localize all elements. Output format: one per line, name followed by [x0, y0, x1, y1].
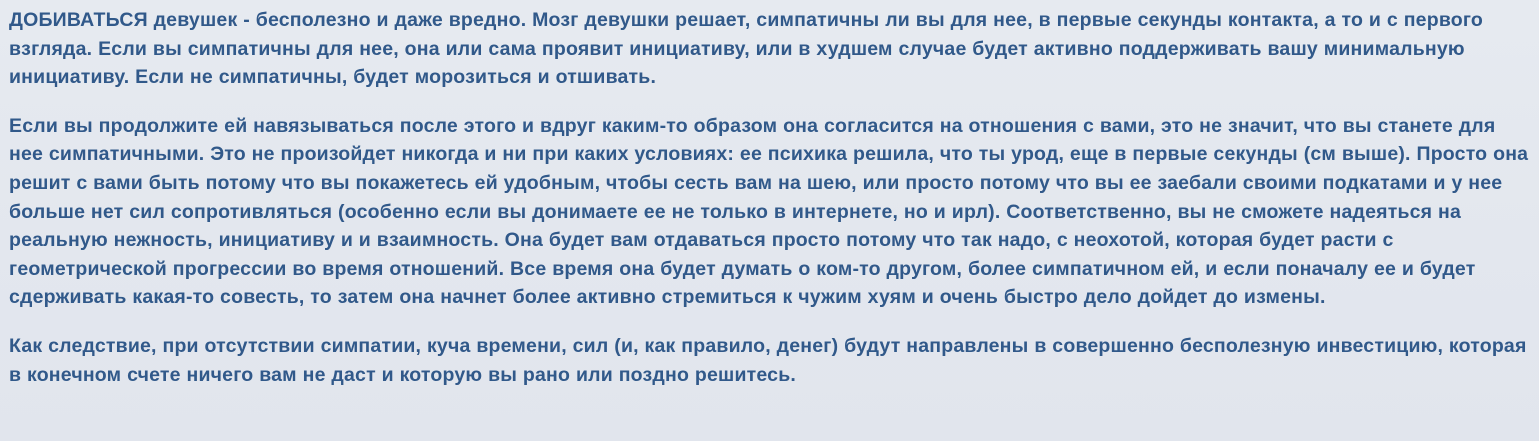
- paragraph-2: Если вы продолжите ей навязываться после…: [9, 112, 1529, 312]
- paragraph-1: ДОБИВАТЬСЯ девушек - бесполезно и даже в…: [9, 6, 1529, 92]
- text-page: ДОБИВАТЬСЯ девушек - бесполезно и даже в…: [0, 0, 1539, 441]
- paragraph-3: Как следствие, при отсутствии симпатии, …: [9, 332, 1529, 389]
